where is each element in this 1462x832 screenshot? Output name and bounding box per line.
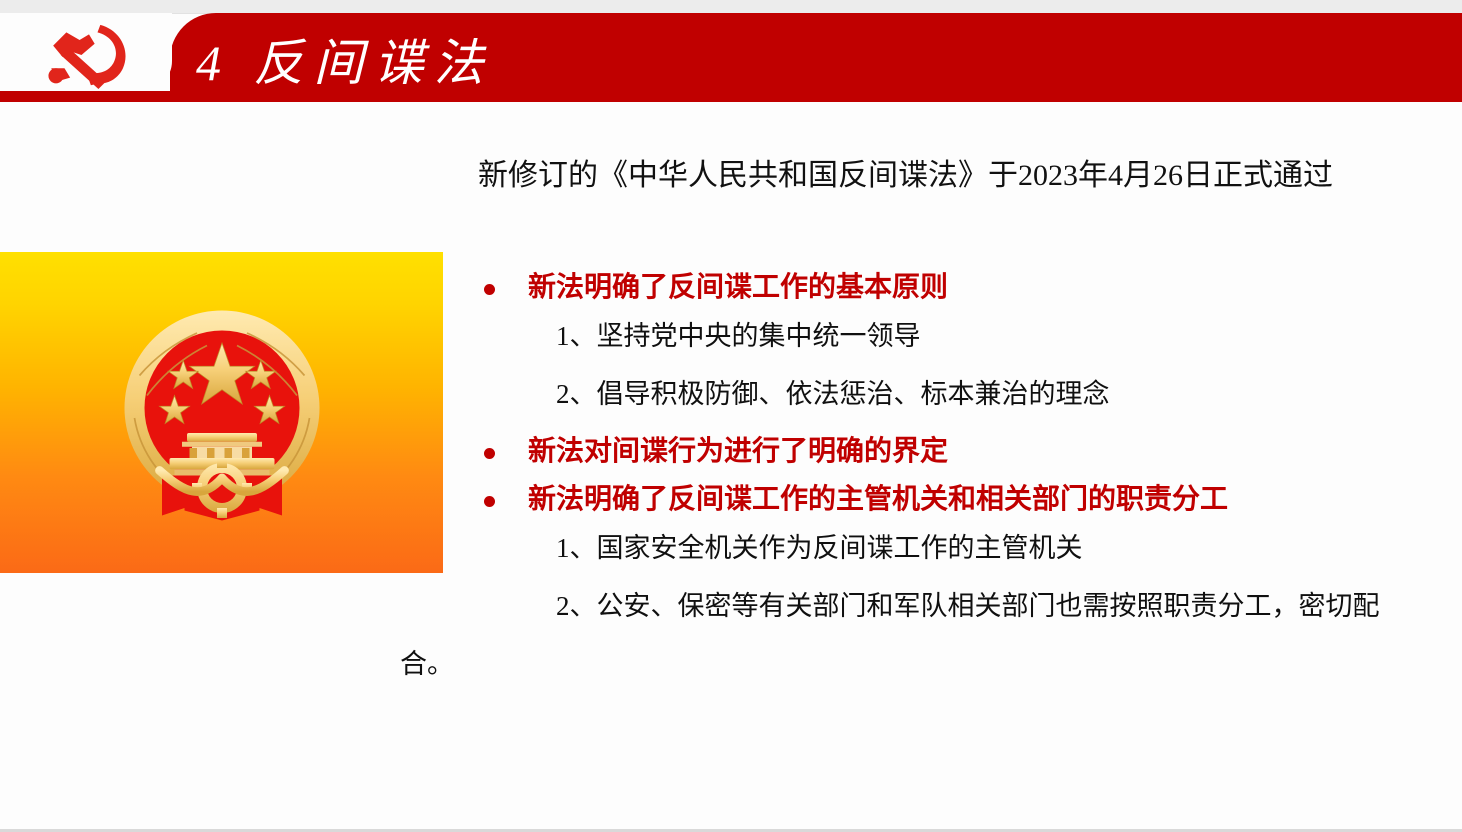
bullet-label: 新法明确了反间谍工作的基本原则 — [528, 272, 948, 303]
national-emblem-image — [0, 252, 443, 573]
bullet-dot-icon — [484, 496, 495, 507]
bullet-label: 新法对间谍行为进行了明确的界定 — [528, 436, 948, 467]
bullet-item: 新法明确了反间谍工作的基本原则 — [478, 272, 1462, 320]
header-banner: 4 反间谍法 — [0, 13, 1462, 102]
hammer-and-sickle-icon — [41, 23, 137, 89]
bullet-item: 新法明确了反间谍工作的主管机关和相关部门的职责分工 — [478, 484, 1462, 532]
header-emblem-plaque — [0, 13, 172, 91]
sub-item: 1、国家安全机关作为反间谍工作的主管机关 — [478, 532, 1462, 590]
bullet-dot-icon — [484, 284, 495, 295]
content-bullets: 新法明确了反间谍工作的基本原则 1、坚持党中央的集中统一领导 2、倡导积极防御、… — [478, 272, 1462, 680]
sub-item: 1、坚持党中央的集中统一领导 — [478, 320, 1462, 378]
sub-item: 2、倡导积极防御、依法惩治、标本兼治的理念 — [478, 378, 1462, 436]
sub-item: 2、公安、保密等有关部门和军队相关部门也需按照职责分工，密切配 — [478, 590, 1462, 648]
bullet-dot-icon — [484, 448, 495, 459]
bullet-label: 新法明确了反间谍工作的主管机关和相关部门的职责分工 — [528, 484, 1228, 515]
bullet-item: 新法对间谍行为进行了明确的界定 — [478, 436, 1462, 484]
lede-paragraph: 新修订的《中华人民共和国反间谍法》于2023年4月26日正式通过 — [478, 156, 1438, 196]
sub-item-continuation: 合。 — [400, 648, 1462, 680]
page-title: 4 反间谍法 — [196, 26, 494, 92]
top-gray-sliver — [0, 0, 1462, 14]
slide-root: 4 反间谍法 — [0, 0, 1462, 832]
